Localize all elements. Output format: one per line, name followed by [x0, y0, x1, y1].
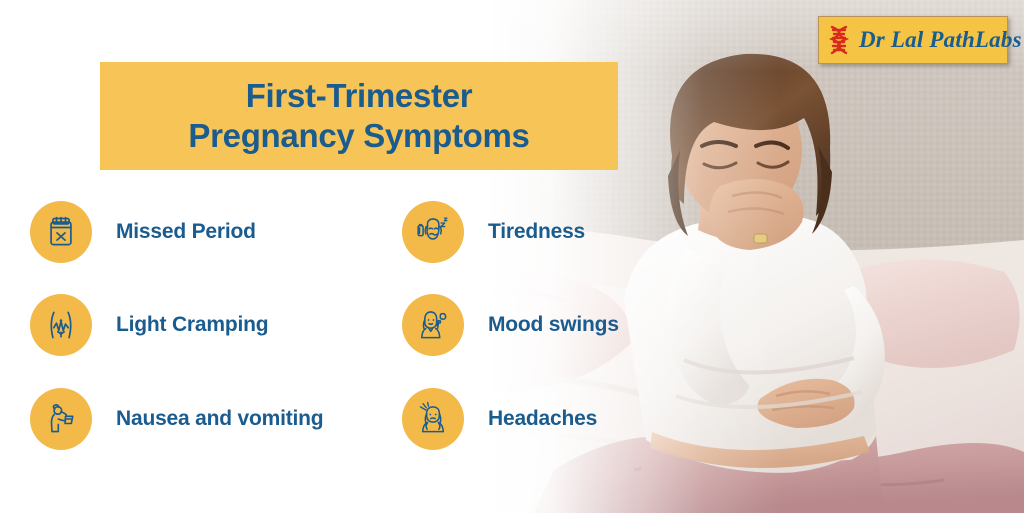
- woman-headache-icon: [402, 388, 464, 450]
- woman-mood-bubble-icon: [402, 294, 464, 356]
- symptom-label: Missed Period: [116, 220, 256, 244]
- tired-face-sleep-icon: [402, 201, 464, 263]
- calendar-cross-icon: [30, 201, 92, 263]
- brand-logo[interactable]: Dr Lal PathLabs: [818, 16, 1008, 64]
- symptom-label: Light Cramping: [116, 313, 268, 337]
- symptom-item-light-cramping[interactable]: Light Cramping: [30, 293, 268, 357]
- symptom-label: Headaches: [488, 407, 597, 431]
- symptom-item-headaches[interactable]: Headaches: [402, 387, 597, 451]
- symptom-list: Missed Period Light C: [0, 186, 760, 476]
- brand-logo-text: Dr Lal PathLabs: [859, 27, 1022, 53]
- symptom-item-missed-period[interactable]: Missed Period: [30, 200, 256, 264]
- page-title-banner: First-Trimester Pregnancy Symptoms: [100, 62, 618, 170]
- symptom-column-right: Tiredness: [402, 186, 782, 476]
- symptom-column-left: Missed Period Light C: [30, 186, 410, 476]
- infographic-canvas: Dr Lal PathLabs First-Trimester Pregnanc…: [0, 0, 1024, 513]
- symptom-label: Tiredness: [488, 220, 585, 244]
- page-title-line-1: First-Trimester: [246, 76, 473, 116]
- person-vomiting-icon: [30, 388, 92, 450]
- dna-helix-mark: [827, 25, 851, 55]
- symptom-label: Mood swings: [488, 313, 619, 337]
- symptom-label: Nausea and vomiting: [116, 407, 323, 431]
- abdomen-cramp-icon: [30, 294, 92, 356]
- symptom-item-nausea-and-vomiting[interactable]: Nausea and vomiting: [30, 387, 323, 451]
- symptom-item-mood-swings[interactable]: Mood swings: [402, 293, 619, 357]
- page-title-line-2: Pregnancy Symptoms: [188, 116, 529, 156]
- symptom-item-tiredness[interactable]: Tiredness: [402, 200, 585, 264]
